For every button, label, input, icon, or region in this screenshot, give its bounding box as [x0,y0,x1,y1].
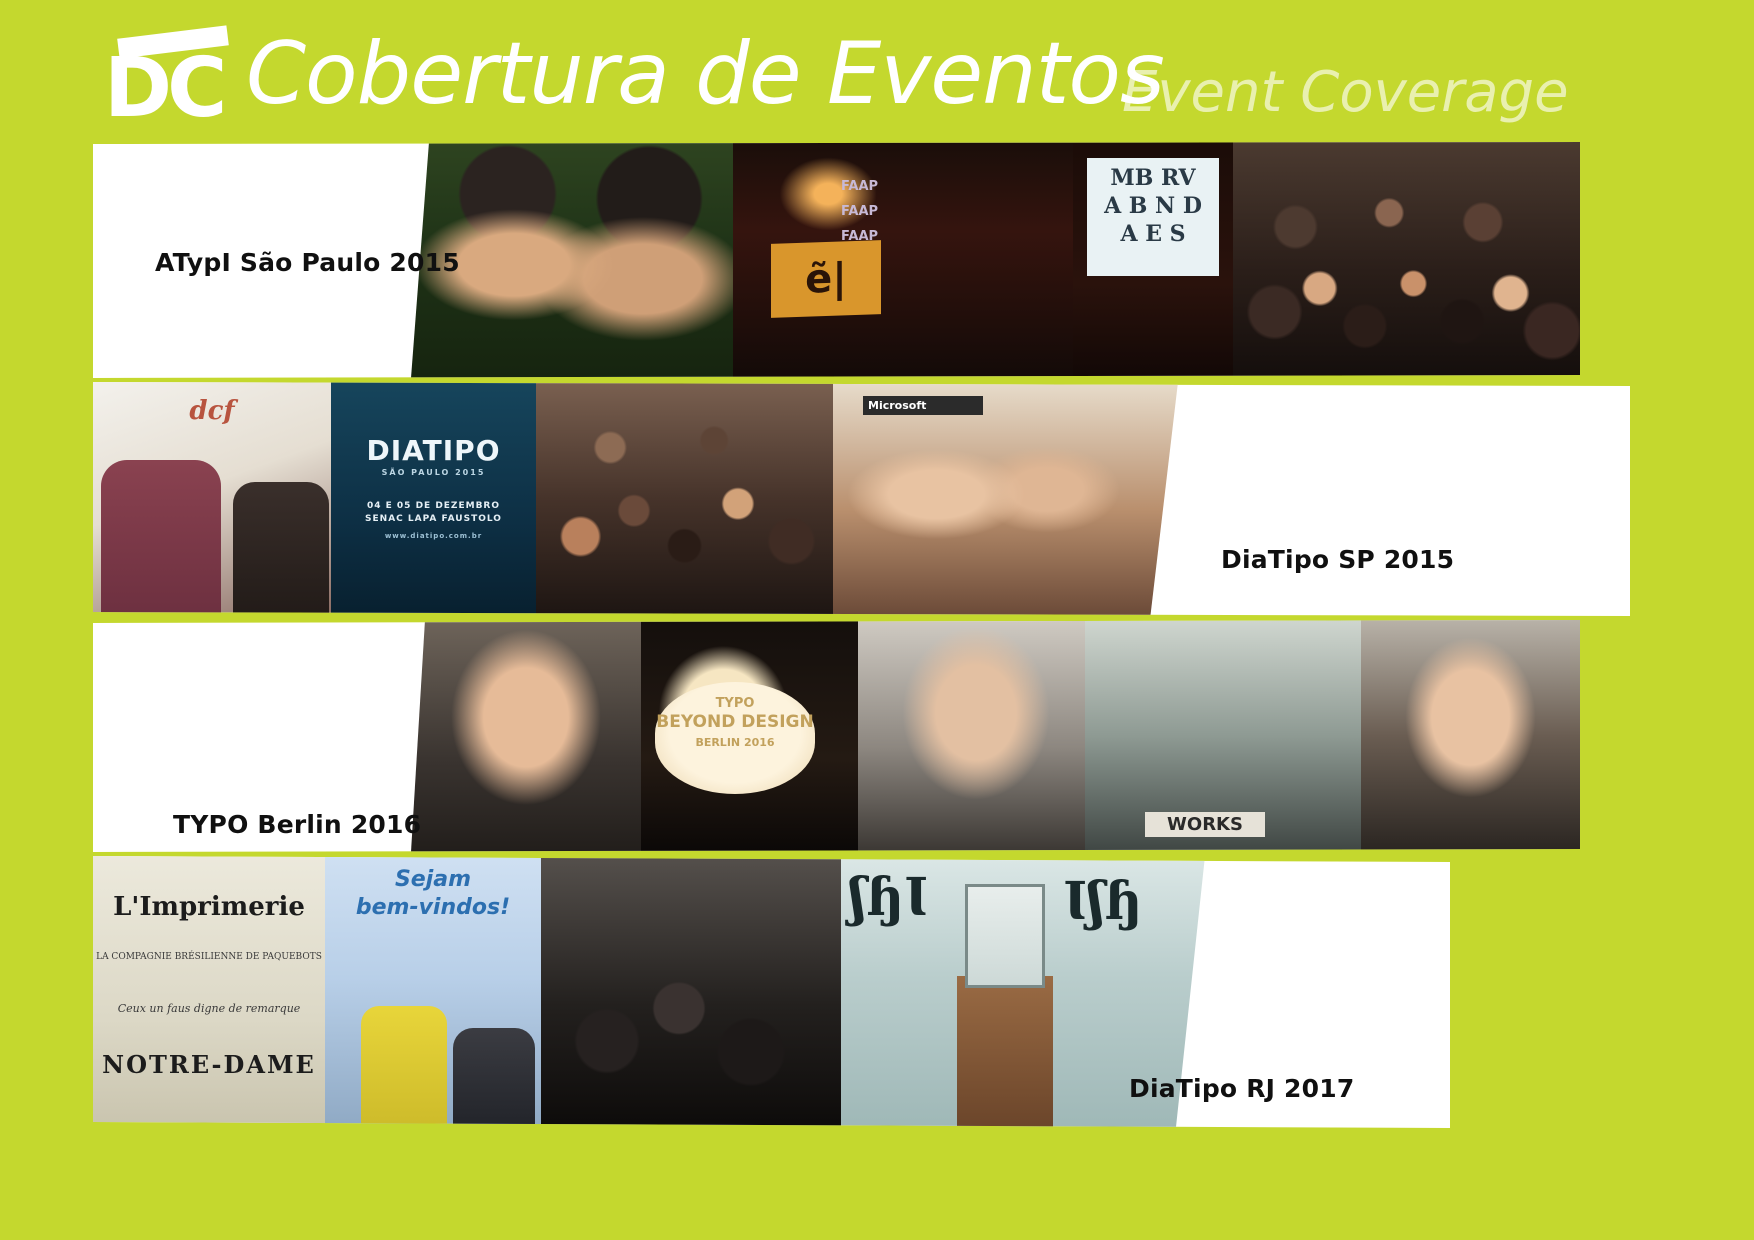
tile-conference-desk-speakers: WORKS [1085,620,1361,852]
photo-strip-atypi: FAAPFAAPFAAPFAAP ẽ| MB RVA B N DA E S [411,142,1580,378]
tile-typo-beyond-design-stage: TYPOBEYOND DESIGNBERLIN 2016 [641,620,858,852]
tile-portrait-man-glasses [858,620,1085,852]
tile-letterpress-specimen-slide: L'Imprimerie NOTRE-DAME LA COMPAGNIE BRÉ… [93,856,325,1128]
tile-workshop-whiteboard-sketching: dcf [93,382,331,616]
tile-diatipo-banner-wall: DIATIPO SÃO PAULO 2015 04 E 05 DE DEZEMB… [331,382,536,616]
speaker-yellow-shirt [361,1006,447,1128]
row-label-diatipo-rj: DiaTipo RJ 2017 [1129,1074,1354,1103]
event-row-typo-berlin: TYPOBEYOND DESIGNBERLIN 2016 WORKS TYPO … [93,620,1580,852]
tile-welcome-slide-speaker: Sejambem-vindos! [325,856,541,1128]
person-dark-shirt [233,482,329,616]
tile-portrait-woman-long-hair [1361,620,1580,852]
event-row-diatipo-rj: L'Imprimerie NOTRE-DAME LA COMPAGNIE BRÉ… [93,856,1450,1128]
logo-text: DC [104,48,222,130]
row-label-typo-berlin: TYPO Berlin 2016 [173,810,421,839]
typo-lightbox [655,682,815,794]
dc-logo: DC [104,30,244,125]
projection-screen [1087,158,1219,276]
page-subtitle: Event Coverage [1122,62,1569,124]
tile-panel-discussion-microphones: Microsoft [833,382,1178,616]
photo-strip-typo-berlin: TYPOBEYOND DESIGNBERLIN 2016 WORKS [411,620,1580,852]
event-row-atypi: FAAPFAAPFAAPFAAP ẽ| MB RVA B N DA E S AT… [93,142,1580,378]
tile-audience-crowd-seated [1233,142,1580,378]
row-label-atypi: ATypI São Paulo 2015 [155,248,460,277]
photo-strip-diatipo-rj: L'Imprimerie NOTRE-DAME LA COMPAGNIE BRÉ… [93,856,1205,1128]
event-row-diatipo-sp: dcf DIATIPO SÃO PAULO 2015 04 E 05 DE DE… [93,382,1630,616]
tile-audience-seated-talk [536,382,833,616]
tile-portrait-woman-smiling [411,620,641,852]
tile-lettering-slide-screen: MB RVA B N DA E S [1073,142,1233,378]
photo-strip-diatipo-sp: dcf DIATIPO SÃO PAULO 2015 04 E 05 DE DE… [93,382,1178,616]
page-header: DC Cobertura de Eventos Event Coverage [0,0,1754,140]
row-label-diatipo-sp: DiaTipo SP 2015 [1221,545,1454,574]
tile-faap-stage-talk: FAAPFAAPFAAPFAAP ẽ| [733,142,1073,378]
corridor-doorway [965,884,1045,988]
person-purple-shirt [101,460,221,616]
tile-audience-dark-room [541,856,841,1128]
listener-dark [453,1028,535,1128]
page-title: Cobertura de Eventos [246,26,1164,122]
corridor-floor [957,976,1053,1128]
